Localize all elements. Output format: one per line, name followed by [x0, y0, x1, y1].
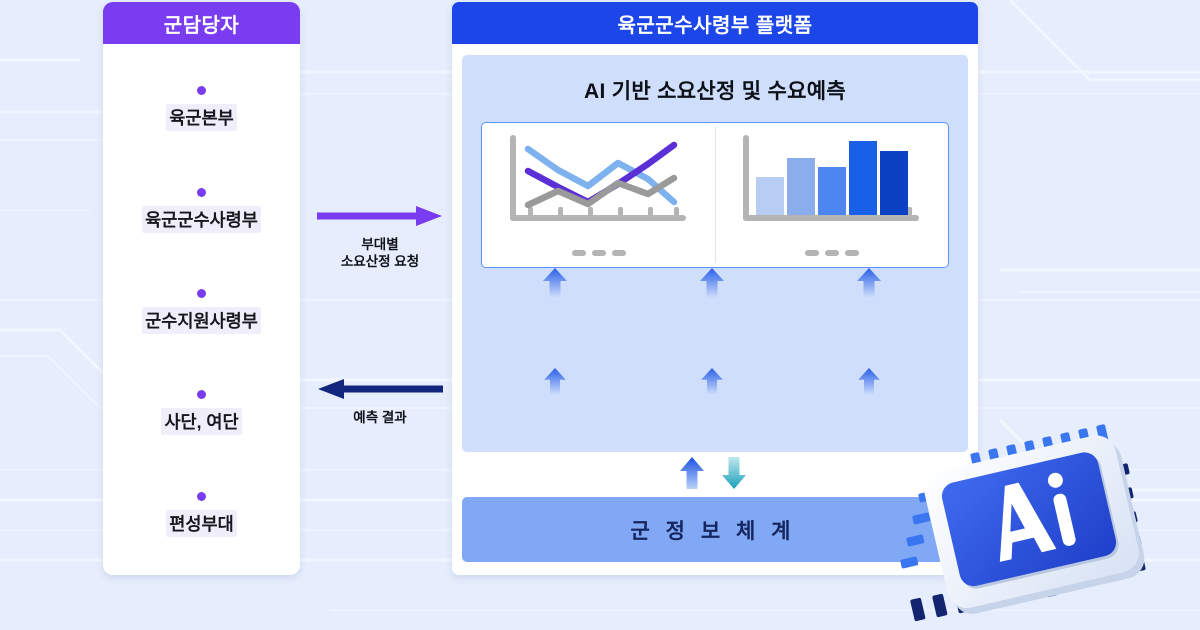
line-chart	[482, 123, 715, 267]
left-panel: 군담당자 육군본부 육군군수사령부 군수지원사령부 사단, 여단 편성부대	[103, 2, 300, 575]
request-arrow-caption: 부대별 소요산정 요청	[305, 236, 455, 271]
line-chart-legend-dashes	[482, 250, 715, 256]
left-panel-list: 육군본부 육군군수사령부 군수지원사령부 사단, 여단 편성부대	[103, 44, 300, 575]
legend-dash	[825, 250, 839, 256]
legend-dash	[592, 250, 606, 256]
bullet-dot-icon	[197, 289, 206, 298]
arrow-up-icon	[543, 268, 567, 298]
request-caption-line2: 소요산정 요청	[305, 253, 455, 270]
legend-dash	[612, 250, 626, 256]
list-item[interactable]: 편성부대	[166, 492, 236, 537]
arrow-up-icon	[680, 457, 704, 489]
bar-chart-legend-dashes	[715, 250, 948, 256]
list-item[interactable]: 육군군수사령부	[142, 188, 261, 233]
charts-card	[481, 122, 949, 268]
arrow-left-icon	[315, 378, 445, 400]
section-title: AI 기반 소요산정 및 수요예측	[462, 55, 968, 105]
request-caption-line1: 부대별	[305, 236, 455, 253]
list-item[interactable]: 육군본부	[166, 86, 236, 131]
legend-dash	[805, 250, 819, 256]
list-item-label: 군수지원사령부	[142, 307, 261, 334]
arrow-down-icon	[722, 457, 746, 489]
bullet-dot-icon	[197, 390, 206, 399]
arrow-right-icon	[315, 205, 445, 227]
list-item-label: 편성부대	[166, 510, 236, 537]
bar-chart	[715, 123, 948, 267]
ai-chip-icon	[880, 418, 1200, 630]
list-item[interactable]: 군수지원사령부	[142, 289, 261, 334]
request-flow-group: 부대별 소요산정 요청	[305, 205, 455, 271]
list-item-label: 사단, 여단	[161, 408, 241, 435]
line-chart-svg	[482, 123, 715, 249]
bullet-dot-icon	[197, 86, 206, 95]
legend-dash	[572, 250, 586, 256]
arrow-up-icon	[700, 268, 724, 298]
result-arrow-caption: 예측 결과	[305, 409, 455, 426]
bullet-dot-icon	[197, 188, 206, 197]
arrow-up-icon	[543, 368, 567, 395]
bullet-dot-icon	[197, 492, 206, 501]
list-item[interactable]: 사단, 여단	[161, 390, 241, 435]
result-flow-group: 예측 결과	[305, 378, 455, 426]
list-item-label: 육군본부	[166, 104, 236, 131]
list-item-label: 육군군수사령부	[142, 206, 261, 233]
arrow-up-icon	[857, 268, 881, 298]
right-panel-header: 육군군수사령부 플랫폼	[452, 2, 978, 44]
result-caption-line1: 예측 결과	[305, 409, 455, 426]
bar-chart-svg	[715, 123, 948, 249]
legend-dash	[845, 250, 859, 256]
left-panel-header: 군담당자	[103, 2, 300, 44]
arrow-up-icon	[700, 368, 724, 395]
arrow-up-icon	[857, 368, 881, 395]
